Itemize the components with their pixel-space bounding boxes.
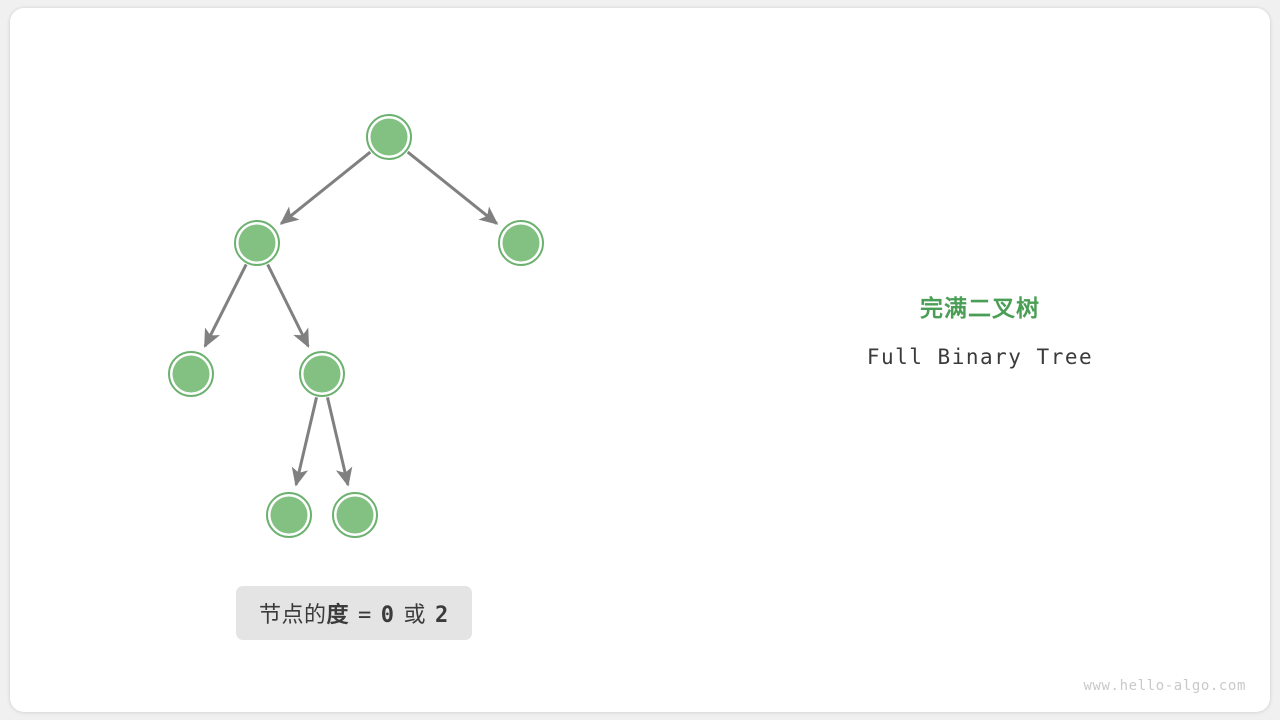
tree-edge xyxy=(296,397,316,484)
tree-node-disc xyxy=(173,356,210,393)
degree-value-b: 2 xyxy=(435,603,449,628)
degree-equals: = xyxy=(358,603,372,628)
tree-node-disc xyxy=(337,497,374,534)
tree-edges xyxy=(205,152,497,485)
degree-prefix: 节点的 xyxy=(259,597,327,629)
tree-node-disc xyxy=(503,225,540,262)
tree-edge xyxy=(268,265,309,347)
degree-term: 度 xyxy=(327,597,350,629)
tree-node-disc xyxy=(304,356,341,393)
tree-node-disc xyxy=(371,119,408,156)
tree-edge xyxy=(281,152,370,224)
degree-annotation-pill: 节点的度=0或2 xyxy=(236,586,472,640)
degree-value-a: 0 xyxy=(381,603,395,628)
tree-edge xyxy=(408,152,497,224)
tree-node xyxy=(367,115,411,159)
tree-node-disc xyxy=(239,225,276,262)
tree-node xyxy=(499,221,543,265)
tree-edge xyxy=(327,397,347,484)
diagram-title-cn: 完满二叉树 xyxy=(800,293,1160,323)
tree-edge xyxy=(205,264,246,346)
tree-node xyxy=(267,493,311,537)
tree-node xyxy=(333,493,377,537)
tree-node xyxy=(235,221,279,265)
tree-nodes xyxy=(169,115,543,537)
tree-node xyxy=(169,352,213,396)
tree-node-disc xyxy=(271,497,308,534)
diagram-title-en: Full Binary Tree xyxy=(800,343,1160,371)
site-watermark: www.hello-algo.com xyxy=(1083,678,1246,694)
degree-conjunction: 或 xyxy=(404,597,427,629)
legend-block: 完满二叉树 Full Binary Tree xyxy=(800,293,1160,371)
diagram-canvas: 完满二叉树 Full Binary Tree 节点的度=0或2 www.hell… xyxy=(10,8,1270,712)
tree-node xyxy=(300,352,344,396)
